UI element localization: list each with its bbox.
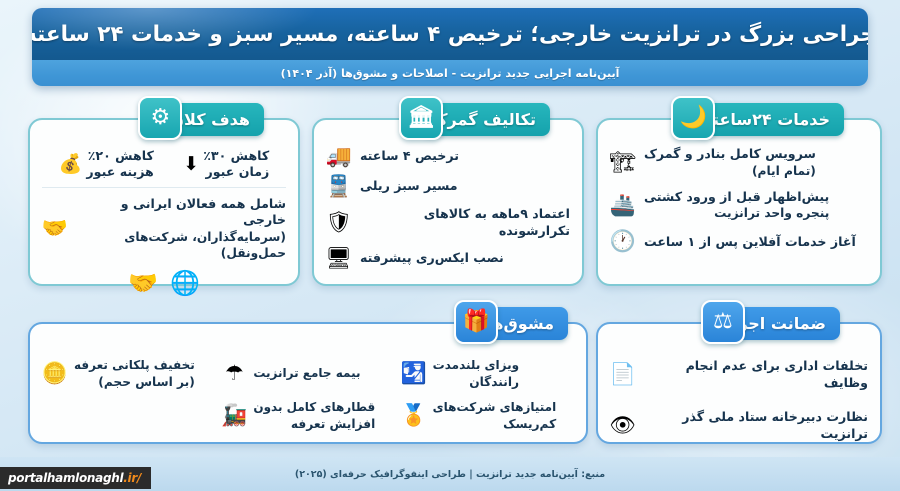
- card-customs-duties-body: ترخیص ۴ ساعته 🚚 مسیر سبز ریلی 🚆 اعتماد ۹…: [314, 120, 582, 284]
- incentive-text: قطارهای کامل بدون افزایش تعرفه: [253, 400, 375, 432]
- card-customs-duties: تکالیف گمرک 🏛 ترخیص ۴ ساعته 🚚 مسیر سبز ر…: [312, 118, 584, 286]
- card-enforcement-title: ضمانت اجرا: [733, 314, 826, 333]
- card-enforcement: ضمانت اجرا ⚖ تخلفات اداری برای عدم انجام…: [596, 322, 882, 444]
- goal-note-row: شامل همه فعالان ایرانی و خارجی (سرمایه‌گ…: [42, 196, 286, 261]
- list-item: امتیازهای شرکت‌های کم‌ریسک 🏅: [401, 400, 574, 432]
- incentive-text: تخفیف پلکانی تعرفه (بر اساس حجم): [74, 358, 195, 390]
- card-customs-duties-badge: تکالیف گمرک 🏛: [421, 103, 550, 136]
- handshake-icon: 🤝: [128, 269, 158, 297]
- list-item: اعتماد ۹ماهه به کالاهای تکرارشونده 🛡: [326, 206, 570, 239]
- footer-source-text: منبع: آیین‌نامه جدید ترانزیت | طراحی این…: [295, 469, 605, 480]
- gift-icon: 🎁: [454, 300, 498, 344]
- goal-stats-row: کاهش ۳۰٪ زمان عبور ⬇ کاهش ۲۰٪ هزینه عبور…: [42, 146, 286, 188]
- list-item: پیش‌اظهار قبل از ورود کشتی پنجره واحد تر…: [610, 189, 868, 222]
- customs-item-text: نصب ایکس‌ری پیشرفته: [360, 250, 504, 267]
- card-services-24h-body: سرویس کامل بنادر و گمرک (تمام ایام) 🏗 پی…: [598, 120, 880, 284]
- shield-check-box-icon: 🛡: [326, 212, 352, 233]
- service-item-text: آغاز خدمات آفلاین پس از ۱ ساعت: [644, 234, 856, 251]
- list-item: ترخیص ۴ ساعته 🚚: [326, 146, 570, 167]
- card-incentives-badge: مشوق‌ها 🎁: [476, 307, 568, 340]
- customs-item-text: ترخیص ۴ ساعته: [360, 148, 459, 165]
- list-item: بیمه جامع ترانزیت ☂: [221, 358, 394, 390]
- service-item-text: سرویس کامل بنادر و گمرک (تمام ایام): [644, 146, 816, 179]
- enforcement-item-text: نظارت دبیرخانه ستاد ملی گذر ترانزیت: [644, 409, 868, 442]
- customs-building-icon: 🏛: [399, 96, 443, 140]
- ship-document-icon: 🚢: [610, 195, 636, 216]
- incentives-grid: ویزای بلندمدت رانندگان 🛂 بیمه جامع ترانز…: [42, 354, 574, 432]
- card-enforcement-badge: ضمانت اجرا ⚖: [723, 307, 840, 340]
- card-main-goal: هدف کلان ⚙ کاهش ۳۰٪ زمان عبور ⬇ کاهش ۲۰٪…: [28, 118, 300, 286]
- card-services-24h: خدمات ۲۴ساعته 🌙 سرویس کامل بنادر و گمرک …: [596, 118, 882, 286]
- watermark-url: portalhamlonaghl.ir/: [0, 467, 151, 489]
- coins-percent-icon: 🪙: [42, 363, 68, 384]
- customs-item-text: مسیر سبز ریلی: [360, 178, 458, 195]
- down-arrow-icon: ⬇: [183, 155, 199, 174]
- card-customs-duties-title: تکالیف گمرک: [431, 110, 536, 129]
- sun-moon-icon: 🌙: [671, 96, 715, 140]
- list-item: سرویس کامل بنادر و گمرک (تمام ایام) 🏗: [610, 146, 868, 179]
- watermark-tld: .ir/: [123, 471, 141, 485]
- incentive-text: امتیازهای شرکت‌های کم‌ریسک: [433, 400, 557, 432]
- card-main-goal-title: هدف کلان: [170, 110, 250, 129]
- goal-decorative-icons: 🌐 🤝: [42, 269, 286, 297]
- goal-stat-text: کاهش ۲۰٪ هزینه عبور: [86, 148, 153, 181]
- list-item: نصب ایکس‌ری پیشرفته 🖥: [326, 248, 570, 269]
- watermark-domain: portalhamlonaghl: [8, 471, 123, 485]
- incentives-grid-spacer: [42, 400, 215, 432]
- goal-stat-text: کاهش ۳۰٪ زمان عبور: [203, 148, 269, 181]
- card-incentives-body: ویزای بلندمدت رانندگان 🛂 بیمه جامع ترانز…: [30, 324, 586, 442]
- card-services-24h-badge: خدمات ۲۴ساعته 🌙: [693, 103, 844, 136]
- card-services-24h-title: خدمات ۲۴ساعته: [703, 110, 830, 129]
- port-crane-calendar-icon: 🏗: [610, 152, 636, 173]
- list-item: ویزای بلندمدت رانندگان 🛂: [401, 358, 574, 390]
- card-main-goal-badge: هدف کلان ⚙: [160, 103, 264, 136]
- incentive-text: بیمه جامع ترانزیت: [253, 366, 360, 382]
- car-umbrella-insurance-icon: ☂: [221, 363, 247, 384]
- award-ribbon-icon: 🏅: [401, 405, 427, 426]
- handshake-check-icon: 🤝: [42, 218, 68, 239]
- coin-down-arrow-icon: 💰: [59, 155, 83, 174]
- goal-stat: کاهش ۳۰٪ زمان عبور ⬇: [183, 148, 269, 181]
- list-item: تخلفات اداری برای عدم انجام وظایف 📄: [610, 358, 868, 391]
- card-main-goal-body: کاهش ۳۰٪ زمان عبور ⬇ کاهش ۲۰٪ هزینه عبور…: [30, 120, 298, 284]
- gear-wrench-icon: ⚙: [138, 96, 182, 140]
- list-item: قطارهای کامل بدون افزایش تعرفه 🚂: [221, 400, 394, 432]
- header-subtitle-bar: آیین‌نامه اجرایی جدید ترانزیت - اصلاحات …: [32, 60, 868, 86]
- truck-stopwatch-icon: 🚚: [326, 146, 352, 167]
- list-item: آغاز خدمات آفلاین پس از ۱ ساعت 🕐: [610, 231, 868, 252]
- passport-visa-icon: 🛂: [401, 363, 427, 384]
- page-subtitle: آیین‌نامه اجرایی جدید ترانزیت - اصلاحات …: [281, 67, 620, 80]
- header-banner: جراحی بزرگ در ترانزیت خارجی؛ ترخیص ۴ ساع…: [32, 8, 868, 86]
- page-title: جراحی بزرگ در ترانزیت خارجی؛ ترخیص ۴ ساع…: [32, 22, 868, 47]
- train-green-arrow-icon: 🚆: [326, 176, 352, 197]
- incentive-text: ویزای بلندمدت رانندگان: [433, 358, 519, 390]
- locomotive-icon: 🚂: [221, 405, 247, 426]
- clock-plug-icon: 🕐: [610, 231, 636, 252]
- enforcement-item-text: تخلفات اداری برای عدم انجام وظایف: [644, 358, 868, 391]
- globe-icon: 🌐: [170, 269, 200, 297]
- gavel-icon: ⚖: [701, 300, 745, 344]
- eye-building-oversight-icon: 👁: [610, 415, 636, 436]
- list-item: نظارت دبیرخانه ستاد ملی گذر ترانزیت 👁: [610, 409, 868, 442]
- goal-stat: کاهش ۲۰٪ هزینه عبور 💰: [59, 148, 154, 181]
- service-item-text: پیش‌اظهار قبل از ورود کشتی پنجره واحد تر…: [644, 189, 829, 222]
- card-incentives: مشوق‌ها 🎁 ویزای بلندمدت رانندگان 🛂 بیمه …: [28, 322, 588, 444]
- customs-item-text: اعتماد ۹ماهه به کالاهای تکرارشونده: [360, 206, 570, 239]
- document-warning-icon: 📄: [610, 364, 636, 385]
- list-item: مسیر سبز ریلی 🚆: [326, 176, 570, 197]
- header-title-bar: جراحی بزرگ در ترانزیت خارجی؛ ترخیص ۴ ساع…: [32, 8, 868, 60]
- xray-scanner-monitor-icon: 🖥: [326, 248, 352, 269]
- goal-note-text: شامل همه فعالان ایرانی و خارجی (سرمایه‌گ…: [76, 196, 286, 261]
- list-item: تخفیف پلکانی تعرفه (بر اساس حجم) 🪙: [42, 358, 215, 390]
